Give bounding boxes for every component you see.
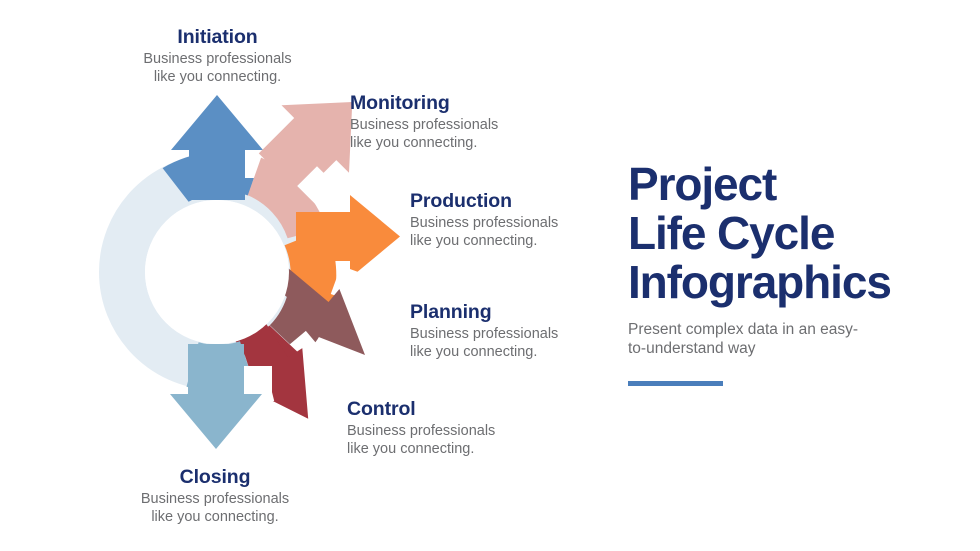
page-subtitle: Present complex data in an easy- to-unde…	[628, 320, 958, 360]
label-control-title: Control	[347, 398, 582, 420]
page-title: Project Life Cycle Infographics	[628, 160, 958, 308]
label-production-description: Business professionals like you connecti…	[410, 215, 645, 250]
label-initiation-title: Initiation	[110, 26, 325, 48]
label-initiation[interactable]: Initiation Business professionals like y…	[110, 26, 325, 87]
notch-closing	[244, 366, 272, 394]
label-production[interactable]: Production Business professionals like y…	[410, 190, 645, 251]
label-closing-title: Closing	[105, 466, 325, 488]
title-area: Project Life Cycle Infographics Present …	[628, 160, 958, 386]
label-planning-title: Planning	[410, 301, 645, 323]
donut-inner-hole	[145, 200, 289, 344]
label-control-description: Business professionals like you connecti…	[347, 423, 582, 458]
label-planning[interactable]: Planning Business professionals like you…	[410, 301, 645, 362]
label-monitoring-title: Monitoring	[350, 92, 585, 114]
label-monitoring-description: Business professionals like you connecti…	[350, 117, 585, 152]
slide-canvas: Initiation Business professionals like y…	[0, 0, 980, 551]
label-closing[interactable]: Closing Business professionals like you …	[105, 466, 325, 527]
label-monitoring[interactable]: Monitoring Business professionals like y…	[350, 92, 585, 153]
label-control[interactable]: Control Business professionals like you …	[347, 398, 582, 459]
label-production-title: Production	[410, 190, 645, 212]
accent-bar	[628, 381, 723, 386]
label-initiation-description: Business professionals like you connecti…	[110, 51, 325, 86]
label-closing-description: Business professionals like you connecti…	[105, 491, 325, 526]
label-planning-description: Business professionals like you connecti…	[410, 326, 645, 361]
